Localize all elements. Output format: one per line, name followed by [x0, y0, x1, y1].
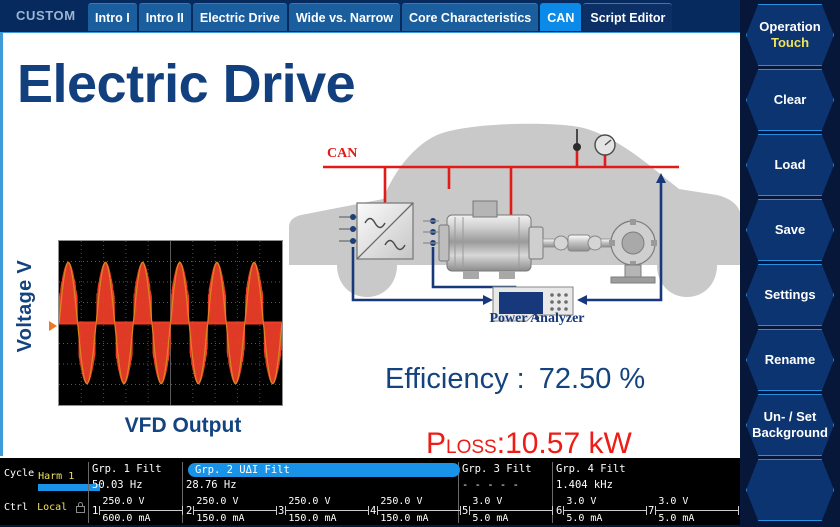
sidebar-button-load[interactable]: Load [746, 134, 834, 196]
lock-icon[interactable] [76, 502, 85, 513]
channel-number: 2 [186, 505, 192, 517]
status-control-column: Cycle Harm 1 Ctrl Local [0, 458, 90, 527]
channel-scale-line [193, 510, 277, 511]
channel-current: 150.0 mA [377, 513, 461, 525]
ctrl-value[interactable]: Local [37, 502, 67, 513]
channel-number: 7 [648, 505, 654, 517]
channel-scale-line [469, 510, 553, 511]
trigger-marker-icon [49, 321, 57, 331]
channel-number: 3 [278, 505, 284, 517]
status-divider [88, 462, 89, 523]
channel-6[interactable]: 63.0 V5.0 mA [556, 496, 647, 525]
channel-current-text: 5.0 mA [566, 513, 602, 524]
channel-number: 1 [92, 505, 98, 517]
channel-voltage: 3.0 V [469, 496, 553, 508]
tab-electric-drive[interactable]: Electric Drive [193, 3, 287, 31]
power-loss-separator: : [497, 427, 505, 456]
custom-label: CUSTOM [0, 0, 88, 23]
tab-wide-vs-narrow[interactable]: Wide vs. Narrow [289, 3, 400, 31]
power-loss-readout: P LOSS : 10.57 kW [426, 427, 632, 456]
tab-list: Intro IIntro IIElectric DriveWide vs. Na… [88, 0, 674, 31]
channel-voltage: 3.0 V [655, 496, 739, 508]
sidebar-button-label: Load [774, 157, 805, 173]
tab-core-characteristics[interactable]: Core Characteristics [402, 3, 538, 31]
efficiency-value: 72.50 % [539, 363, 645, 395]
channel-scale-line [99, 510, 183, 511]
channel-current-text: 5.0 mA [472, 513, 508, 524]
group-header-4[interactable]: Grp. 4 Filt [556, 463, 626, 475]
channel-voltage-text: 250.0 V [380, 496, 422, 507]
power-loss-subscript: LOSS [446, 437, 497, 456]
channel-current: 5.0 mA [655, 513, 739, 525]
channel-5[interactable]: 53.0 V5.0 mA [462, 496, 553, 525]
power-loss-label: P [426, 427, 446, 456]
channel-3[interactable]: 3250.0 V150.0 mA [278, 496, 369, 525]
channel-voltage-text: 3.0 V [566, 496, 596, 507]
tab-bar: CUSTOM Intro IIntro IIElectric DriveWide… [0, 0, 740, 32]
group-header-2[interactable]: Grp. 2 UΔI Filt [188, 463, 460, 477]
channel-voltage-text: 250.0 V [196, 496, 238, 507]
channel-scale-line [563, 510, 647, 511]
sidebar-button-operation[interactable]: OperationTouch [746, 4, 834, 66]
sidebar-button-save[interactable]: Save [746, 199, 834, 261]
channel-2[interactable]: 2250.0 V150.0 mA [186, 496, 277, 525]
scope-panel: Voltage V VFD Output [17, 208, 285, 448]
harmonic-value: Harm 1 [38, 471, 74, 482]
channel-number: 4 [370, 505, 376, 517]
channel-voltage: 250.0 V [377, 496, 461, 508]
can-bus-label: CAN [327, 146, 357, 161]
sidebar-button-settings[interactable]: Settings [746, 264, 834, 326]
content-canvas: Electric Drive [0, 32, 740, 456]
group-value-3: - - - - - [462, 479, 519, 491]
cycle-label: Cycle [4, 464, 34, 479]
channel-voltage-text: 250.0 V [288, 496, 330, 507]
channel-current-text: 600.0 mA [102, 513, 150, 524]
channel-voltage-text: 3.0 V [658, 496, 688, 507]
tab-can[interactable]: CAN [540, 3, 581, 31]
channel-current: 5.0 mA [469, 513, 553, 525]
channel-7[interactable]: 73.0 V5.0 mA [648, 496, 739, 525]
channel-4[interactable]: 4250.0 V150.0 mA [370, 496, 461, 525]
group-header-3[interactable]: Grp. 3 Filt [462, 463, 532, 475]
waveform-plot [58, 240, 283, 406]
scope-y-axis-label: Voltage V [14, 260, 37, 352]
sidebar-button-rename[interactable]: Rename [746, 329, 834, 391]
channel-current: 150.0 mA [193, 513, 277, 525]
channel-number: 5 [462, 505, 468, 517]
sidebar-button-label: Save [775, 222, 805, 238]
channel-current-text: 150.0 mA [196, 513, 244, 524]
sidebar-button-label: Operation [759, 19, 820, 35]
sidebar-button-sublabel: Background [752, 425, 828, 441]
scope-caption: VFD Output [73, 414, 293, 438]
channel-current: 150.0 mA [285, 513, 369, 525]
channel-voltage: 250.0 V [193, 496, 277, 508]
channel-voltage: 250.0 V [99, 496, 183, 508]
tab-intro-ii[interactable]: Intro II [139, 3, 191, 31]
sidebar-button-un-set[interactable]: Un- / SetBackground [746, 394, 834, 456]
channel-current-text: 150.0 mA [380, 513, 428, 524]
status-bar: Cycle Harm 1 Ctrl Local Grp. 1 Filt50.03… [0, 456, 740, 525]
power-loss-value: 10.57 kW [505, 427, 632, 456]
group-value-2: 28.76 Hz [186, 479, 237, 491]
page-title: Electric Drive [17, 57, 355, 111]
harmonic-bar [38, 484, 100, 491]
efficiency-label: Efficiency : [385, 363, 525, 395]
channel-scale-line [285, 510, 369, 511]
sidebar-button-sublabel: Touch [771, 35, 809, 51]
channel-number: 6 [556, 505, 562, 517]
tab-script-editor[interactable]: Script Editor [583, 3, 672, 31]
channel-current-text: 5.0 mA [658, 513, 694, 524]
sidebar-button-label: Un- / Set [764, 409, 817, 425]
harmonic-indicator[interactable]: Harm 1 [38, 464, 100, 491]
sidebar-button-label: Clear [774, 92, 807, 108]
channel-scale-line [377, 510, 461, 511]
dynamometer-icon [609, 219, 657, 283]
efficiency-readout: Efficiency : 72.50 % [385, 363, 645, 396]
channel-voltage: 3.0 V [563, 496, 647, 508]
channel-current: 600.0 mA [99, 513, 183, 525]
channel-voltage-text: 3.0 V [472, 496, 502, 507]
power-analyzer-label: Power Analyzer [447, 311, 627, 327]
sidebar-button-label: Rename [765, 352, 816, 368]
cycle-row: Cycle Harm 1 [4, 464, 100, 491]
application-window: CUSTOM Intro IIntro IIElectric DriveWide… [0, 0, 840, 525]
channel-voltage: 250.0 V [285, 496, 369, 508]
sidebar-button-clear[interactable]: Clear [746, 69, 834, 131]
electric-drive-diagram: CAN [287, 115, 740, 335]
channel-scale-line [655, 510, 739, 511]
channel-current-text: 150.0 mA [288, 513, 336, 524]
group-value-1: 50.03 Hz [92, 479, 143, 491]
sidebar-menu: OperationTouchClearLoadSaveSettingsRenam… [740, 0, 840, 525]
ctrl-label: Ctrl [4, 502, 28, 513]
tab-intro-i[interactable]: Intro I [88, 3, 137, 31]
control-row: Ctrl Local [4, 502, 85, 513]
sidebar-button-label: Settings [764, 287, 815, 303]
group-value-4: 1.404 kHz [556, 479, 613, 491]
channel-1[interactable]: 1250.0 V600.0 mA [92, 496, 183, 525]
channel-current: 5.0 mA [563, 513, 647, 525]
group-header-1[interactable]: Grp. 1 Filt [92, 463, 162, 475]
channel-voltage-text: 250.0 V [102, 496, 144, 507]
sidebar-button-empty[interactable] [746, 459, 834, 521]
